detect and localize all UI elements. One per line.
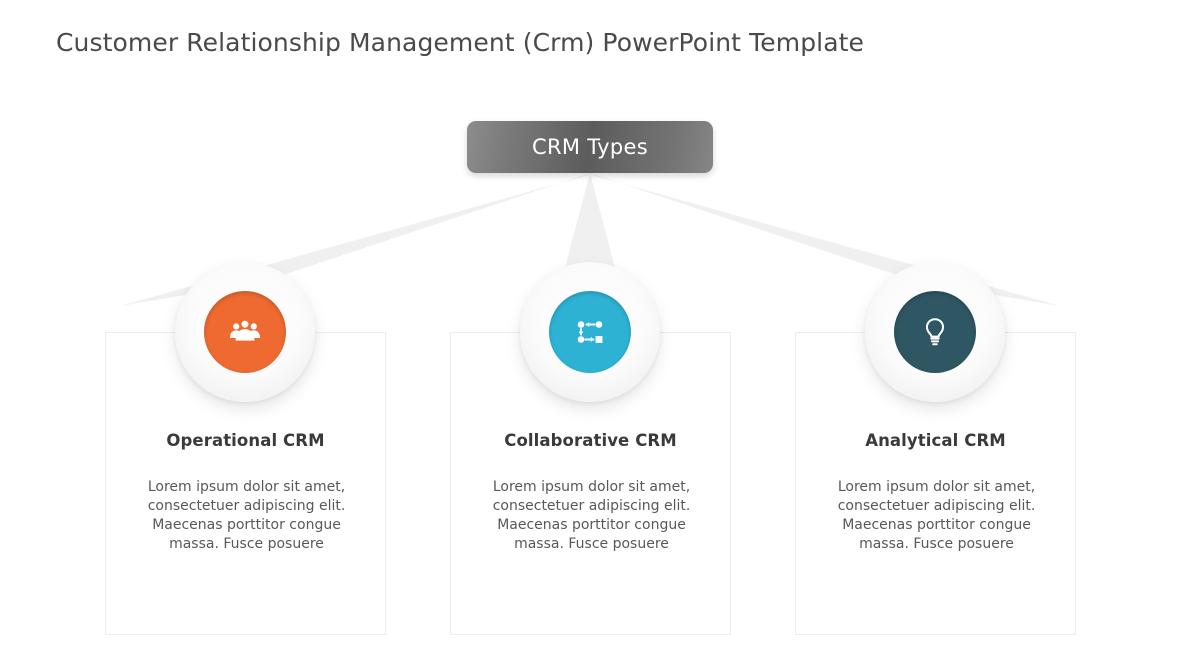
card-title: Collaborative CRM (451, 431, 730, 450)
icon-disc-fill (204, 291, 286, 373)
card-title: Analytical CRM (796, 431, 1075, 450)
icon-disc-fill (894, 291, 976, 373)
slide-canvas: Customer Relationship Management (Crm) P… (0, 0, 1180, 664)
users-group-icon (227, 314, 263, 350)
card-description: Lorem ipsum dolor sit amet, consectetuer… (128, 478, 365, 554)
workflow-nodes-icon (572, 314, 608, 350)
crm-types-header[interactable]: CRM Types (467, 121, 713, 173)
ray-right (590, 173, 1060, 306)
page-title: Customer Relationship Management (Crm) P… (56, 28, 864, 57)
crm-types-header-label: CRM Types (532, 135, 648, 159)
icon-disc-operational[interactable] (175, 262, 315, 402)
card-description: Lorem ipsum dolor sit amet, consectetuer… (818, 478, 1055, 554)
card-description: Lorem ipsum dolor sit amet, consectetuer… (473, 478, 710, 554)
card-title: Operational CRM (106, 431, 385, 450)
icon-disc-collaborative[interactable] (520, 262, 660, 402)
lightbulb-icon (918, 315, 952, 349)
icon-disc-fill (549, 291, 631, 373)
icon-disc-analytical[interactable] (865, 262, 1005, 402)
